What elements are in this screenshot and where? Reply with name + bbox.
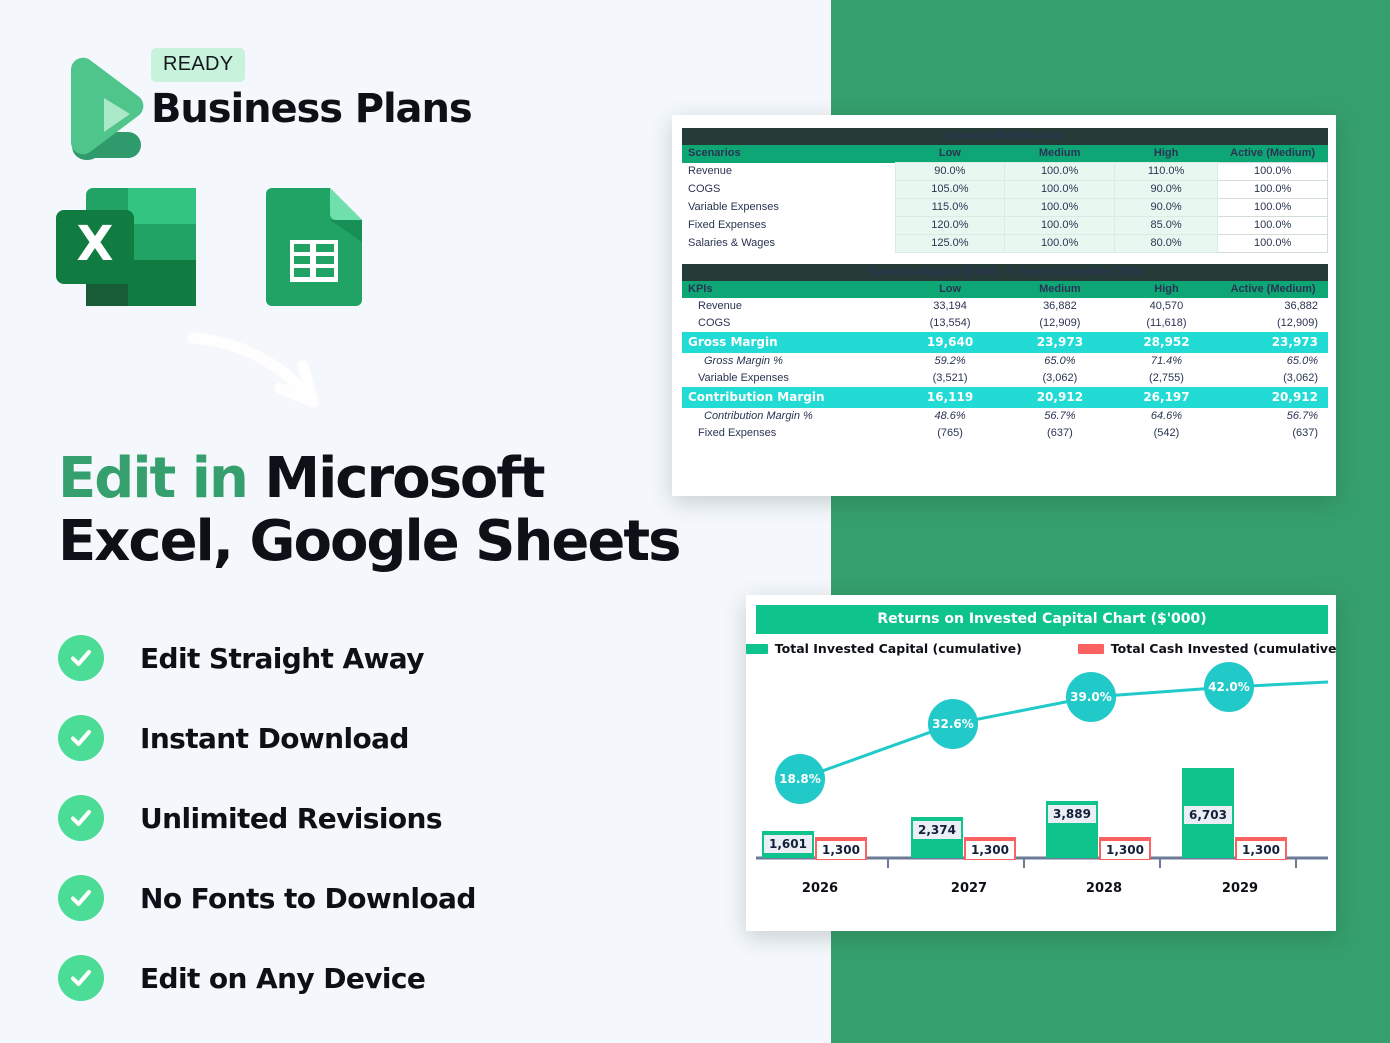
row-label: Fixed Expenses: [682, 425, 895, 442]
col-header-high: High: [1115, 281, 1218, 298]
col-header-medium: Medium: [1005, 281, 1115, 298]
cell-active[interactable]: 100.0%: [1218, 235, 1328, 253]
table-row: COGS (13,554) (12,909) (11,618) (12,909): [682, 315, 1328, 332]
data-point-bubble-2028: 39.0%: [1066, 672, 1116, 722]
legend-swatch-green: [746, 644, 768, 654]
bar-value-green-2028: 3,889: [1048, 805, 1096, 823]
check-icon: [58, 795, 104, 841]
page-title: Edit in Microsoft Excel, Google Sheets: [58, 448, 758, 573]
table-row: Revenue 33,194 36,882 40,570 36,882: [682, 298, 1328, 315]
row-label: Gross Margin: [682, 332, 895, 353]
table-row: Variable Expenses 115.0% 100.0% 90.0% 10…: [682, 199, 1328, 217]
bar-value-green-2026: 1,601: [764, 835, 812, 853]
cell-high[interactable]: 64.6%: [1115, 408, 1218, 425]
col-header-high: High: [1114, 145, 1217, 163]
table-row: Gross Margin % 59.2% 65.0% 71.4% 65.0%: [682, 353, 1328, 370]
cell-low[interactable]: (13,554): [895, 315, 1005, 332]
cell-low[interactable]: 33,194: [895, 298, 1005, 315]
check-icon: [58, 875, 104, 921]
cell-medium[interactable]: 100.0%: [1005, 163, 1115, 181]
cell-active[interactable]: 36,882: [1218, 298, 1328, 315]
cell-low[interactable]: 115.0%: [895, 199, 1005, 217]
legend-item-cash-invested: Total Cash Invested (cumulative): [1078, 641, 1336, 656]
table-row: Variable Expenses (3,521) (3,062) (2,755…: [682, 370, 1328, 387]
cell-medium[interactable]: (12,909): [1005, 315, 1115, 332]
curved-arrow-icon: [185, 330, 355, 435]
data-point-bubble-2027: 32.6%: [928, 699, 978, 749]
list-item: No Fonts to Download: [58, 858, 658, 938]
x-tick-2029: 2029: [1222, 881, 1258, 896]
x-axis-labels: 2026 2027 2028 2029: [756, 868, 1328, 902]
feature-label: Unlimited Revisions: [140, 802, 442, 835]
cell-medium[interactable]: 65.0%: [1005, 353, 1115, 370]
cell-high[interactable]: 71.4%: [1115, 353, 1218, 370]
cell-medium[interactable]: (637): [1005, 425, 1115, 442]
svg-text:X: X: [76, 216, 113, 272]
cell-active[interactable]: 20,912: [1218, 387, 1328, 408]
table-header-row: KPIs Low Medium High Active (Medium): [682, 281, 1328, 298]
x-tick-2027: 2027: [951, 881, 987, 896]
row-label: Fixed Expenses: [682, 217, 895, 235]
x-tick-2026: 2026: [802, 881, 838, 896]
row-label: Salaries & Wages: [682, 235, 895, 253]
cell-active[interactable]: 100.0%: [1218, 181, 1328, 199]
legend-item-invested-capital: Total Invested Capital (cumulative): [746, 641, 1022, 656]
cell-high[interactable]: 85.0%: [1114, 217, 1217, 235]
chart-legend: Total Invested Capital (cumulative) Tota…: [756, 641, 1328, 656]
row-label: Variable Expenses: [682, 370, 895, 387]
cell-high[interactable]: (542): [1115, 425, 1218, 442]
table-row: Contribution Margin % 48.6% 56.7% 64.6% …: [682, 408, 1328, 425]
table-row: Fixed Expenses (765) (637) (542) (637): [682, 425, 1328, 442]
cell-low[interactable]: 125.0%: [895, 235, 1005, 253]
table-row: Fixed Expenses 120.0% 100.0% 85.0% 100.0…: [682, 217, 1328, 235]
cell-high[interactable]: 110.0%: [1114, 163, 1217, 181]
table-row-highlight: Gross Margin 19,640 23,973 28,952 23,973: [682, 332, 1328, 353]
chart-preview-card: Returns on Invested Capital Chart ($'000…: [746, 595, 1336, 931]
row-label: Gross Margin %: [682, 353, 895, 370]
cell-high[interactable]: (2,755): [1115, 370, 1218, 387]
table-row: COGS 105.0% 100.0% 90.0% 100.0%: [682, 181, 1328, 199]
check-icon: [58, 955, 104, 1001]
cell-low[interactable]: (3,521): [895, 370, 1005, 387]
col-header-medium: Medium: [1005, 145, 1115, 163]
check-icon: [58, 715, 104, 761]
cell-medium[interactable]: 36,882: [1005, 298, 1115, 315]
cell-active[interactable]: 100.0%: [1218, 163, 1328, 181]
chart-title: Returns on Invested Capital Chart ($'000…: [756, 605, 1328, 634]
spreadsheet-preview-card: Scenario Multiplicators Scenarios Low Me…: [672, 115, 1336, 496]
col-header-scenarios: Scenarios: [682, 145, 895, 163]
table-title-row: Scenario Multiplicators: [682, 128, 1328, 145]
col-header-active: Active (Medium): [1218, 145, 1328, 163]
feature-label: Edit Straight Away: [140, 642, 424, 675]
microsoft-excel-icon: X: [56, 188, 196, 306]
scenario-outputs-table: Scenario Outputs ($'000) - 5 Years to De…: [682, 264, 1328, 442]
col-header-low: Low: [895, 145, 1005, 163]
headline-rest: Microsoft: [247, 446, 544, 511]
cell-low[interactable]: 16,119: [895, 387, 1005, 408]
brand-block: READY Business Plans: [58, 48, 478, 158]
legend-label: Total Cash Invested (cumulative): [1111, 641, 1336, 656]
row-label: Contribution Margin: [682, 387, 895, 408]
bar-value-red-2028: 1,300: [1101, 841, 1149, 859]
headline-line2: Excel, Google Sheets: [58, 509, 679, 574]
brand-name: Business Plans: [151, 86, 472, 132]
table-row: Revenue 90.0% 100.0% 110.0% 100.0%: [682, 163, 1328, 181]
cell-high[interactable]: 40,570: [1115, 298, 1218, 315]
cell-low[interactable]: 90.0%: [895, 163, 1005, 181]
feature-label: Edit on Any Device: [140, 962, 425, 995]
cell-medium[interactable]: 23,973: [1005, 332, 1115, 353]
cell-low[interactable]: 59.2%: [895, 353, 1005, 370]
scenario-multiplicators-table: Scenario Multiplicators Scenarios Low Me…: [682, 128, 1328, 264]
cell-active[interactable]: 56.7%: [1218, 408, 1328, 425]
cell-active[interactable]: 100.0%: [1218, 199, 1328, 217]
col-header-low: Low: [895, 281, 1005, 298]
cell-medium[interactable]: 100.0%: [1005, 181, 1115, 199]
legend-label: Total Invested Capital (cumulative): [775, 641, 1022, 656]
x-tick-2028: 2028: [1086, 881, 1122, 896]
row-label: Revenue: [682, 163, 895, 181]
feature-label: No Fonts to Download: [140, 882, 476, 915]
cell-active[interactable]: (12,909): [1218, 315, 1328, 332]
list-item: Edit on Any Device: [58, 938, 658, 1018]
cell-medium[interactable]: 100.0%: [1005, 235, 1115, 253]
row-label: Contribution Margin %: [682, 408, 895, 425]
cell-high[interactable]: 90.0%: [1114, 199, 1217, 217]
col-header-active: Active (Medium): [1218, 281, 1328, 298]
cell-medium[interactable]: (3,062): [1005, 370, 1115, 387]
cell-low[interactable]: 48.6%: [895, 408, 1005, 425]
cell-medium[interactable]: 56.7%: [1005, 408, 1115, 425]
cell-high[interactable]: 26,197: [1115, 387, 1218, 408]
row-label: Variable Expenses: [682, 199, 895, 217]
list-item: Edit Straight Away: [58, 618, 658, 698]
bar-value-green-2027: 2,374: [913, 821, 961, 839]
table-spacer: [682, 253, 1328, 264]
row-label: COGS: [682, 315, 895, 332]
table-row-highlight: Contribution Margin 16,119 20,912 26,197…: [682, 387, 1328, 408]
row-label: Revenue: [682, 298, 895, 315]
ready-badge: READY: [151, 48, 245, 82]
legend-swatch-red: [1078, 644, 1104, 654]
cell-active[interactable]: 65.0%: [1218, 353, 1328, 370]
cell-active[interactable]: (3,062): [1218, 370, 1328, 387]
cell-low[interactable]: 19,640: [895, 332, 1005, 353]
scenario-outputs-title: Scenario Outputs ($'000) - 5 Years to De…: [682, 264, 1328, 281]
table-title-row: Scenario Outputs ($'000) - 5 Years to De…: [682, 264, 1328, 281]
bar-value-red-2027: 1,300: [966, 841, 1014, 859]
list-item: Instant Download: [58, 698, 658, 778]
cell-active[interactable]: 100.0%: [1218, 217, 1328, 235]
bar-value-green-2029: 6,703: [1184, 806, 1232, 824]
bar-value-red-2026: 1,300: [817, 841, 865, 859]
cell-high[interactable]: 80.0%: [1114, 235, 1217, 253]
cell-low[interactable]: (765): [895, 425, 1005, 442]
cell-low[interactable]: 105.0%: [895, 181, 1005, 199]
table-header-row: Scenarios Low Medium High Active (Medium…: [682, 145, 1328, 163]
chart-plot-area: 18.8% 32.6% 39.0% 42.0% 1,601 2,374 3,88…: [756, 662, 1328, 902]
app-icons-row: X: [56, 188, 376, 306]
google-sheets-icon: [266, 188, 362, 306]
cell-active[interactable]: (637): [1218, 425, 1328, 442]
cell-active[interactable]: 23,973: [1218, 332, 1328, 353]
play-logo-icon: [58, 52, 144, 160]
data-point-bubble-2026: 18.8%: [775, 754, 825, 804]
check-icon: [58, 635, 104, 681]
cell-high[interactable]: (11,618): [1115, 315, 1218, 332]
bar-value-red-2029: 1,300: [1237, 841, 1285, 859]
cell-high[interactable]: 28,952: [1115, 332, 1218, 353]
data-point-bubble-2029: 42.0%: [1204, 662, 1254, 712]
headline-accent: Edit in: [58, 446, 247, 511]
row-label: COGS: [682, 181, 895, 199]
list-item: Unlimited Revisions: [58, 778, 658, 858]
feature-list: Edit Straight Away Instant Download Unli…: [58, 618, 658, 1018]
cell-medium[interactable]: 100.0%: [1005, 199, 1115, 217]
cell-medium[interactable]: 100.0%: [1005, 217, 1115, 235]
cell-low[interactable]: 120.0%: [895, 217, 1005, 235]
cell-high[interactable]: 90.0%: [1114, 181, 1217, 199]
table-row: Salaries & Wages 125.0% 100.0% 80.0% 100…: [682, 235, 1328, 253]
scenario-multiplicators-title: Scenario Multiplicators: [682, 128, 1328, 145]
feature-label: Instant Download: [140, 722, 409, 755]
cell-medium[interactable]: 20,912: [1005, 387, 1115, 408]
col-header-kpis: KPIs: [682, 281, 895, 298]
